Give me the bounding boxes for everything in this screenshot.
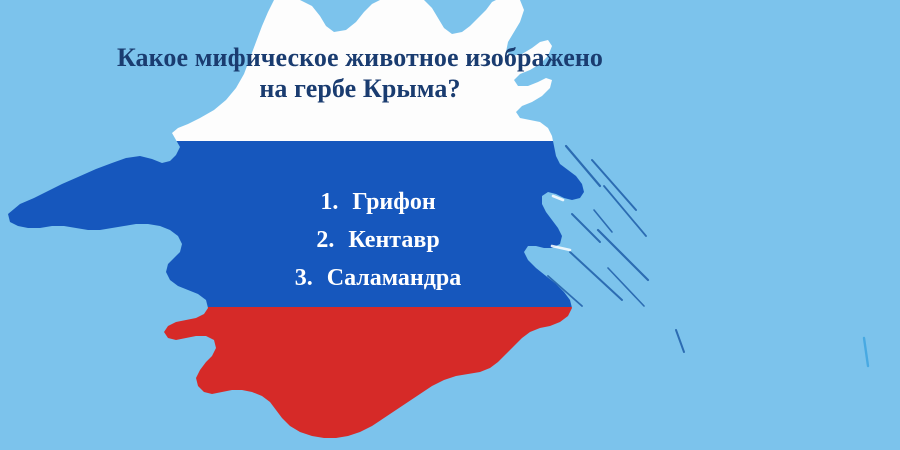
coast-streaks [548,146,868,366]
crimea-map [0,0,900,450]
quiz-image: Какое мифическое животное изображено на … [0,0,900,450]
flag-stripe-blue [0,141,900,307]
flag-stripe-white [0,0,900,141]
flag-stripes [0,0,900,450]
flag-stripe-red [0,307,900,450]
